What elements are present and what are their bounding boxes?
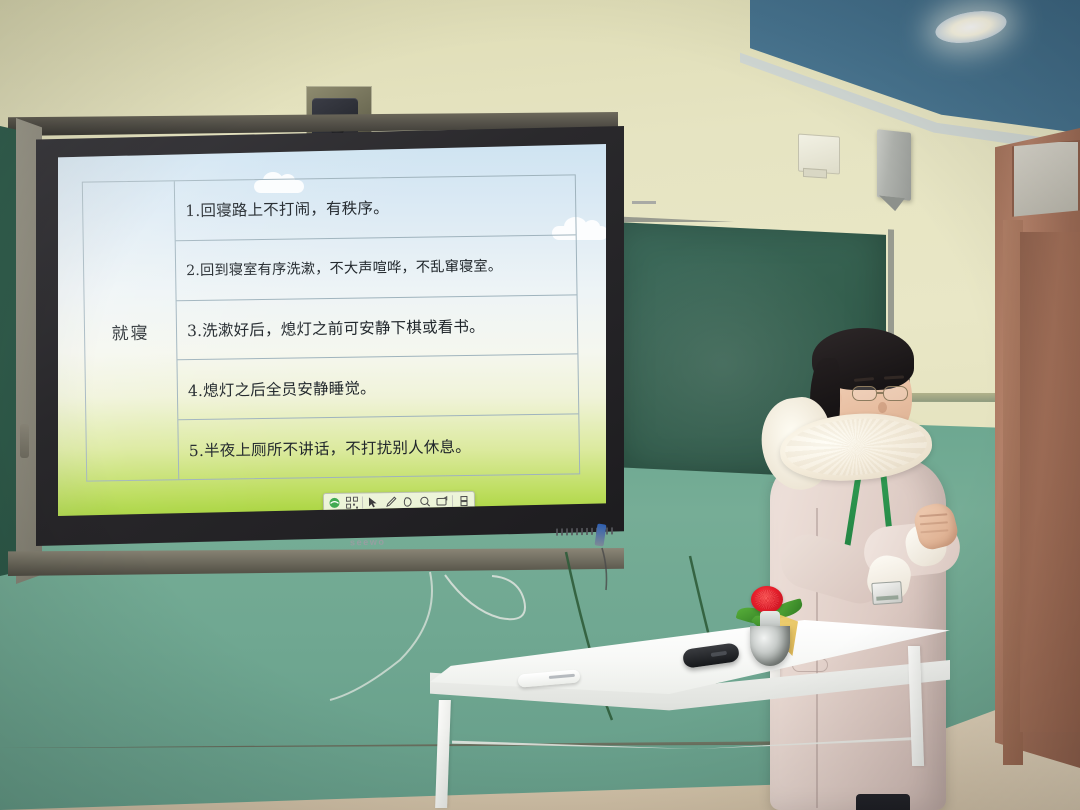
glasses-lens [883,386,908,401]
slide-row: 5.半夜上厕所不讲话，不打扰别人休息。 [178,415,579,480]
display-brand-label: seewo [350,537,386,548]
screenshot-icon[interactable] [434,494,449,508]
classroom-door[interactable] [1020,232,1080,732]
camera-brand-label [632,201,656,204]
id-badge [871,581,902,605]
nose [878,402,887,413]
toolbar-separator [362,497,363,509]
slide-row: 3.洗漱好后，熄灯之前可安静下棋或看书。 [177,295,578,361]
qr-code-icon[interactable] [344,496,359,510]
board-latch[interactable] [20,424,29,458]
interactive-whiteboard-screen[interactable]: 就寝 1.回寝路上不打闹，有秩序。 2.回到寝室有序洗漱，不大声喧哗，不乱窜寝室… [58,144,606,516]
slide-row: 1.回寝路上不打闹，有秩序。 [175,175,576,241]
slide-table: 就寝 1.回寝路上不打闹，有秩序。 2.回到寝室有序洗漱，不大声喧哗，不乱窜寝室… [82,174,580,481]
more-icon[interactable] [456,494,471,508]
slide-row: 2.回到寝室有序洗漱，不大声喧哗，不乱窜寝室。 [176,235,577,301]
red-flower [751,586,783,613]
wall-panel [798,134,840,175]
glasses-icon [852,386,914,402]
trousers [856,794,910,810]
cursor-icon[interactable] [366,495,381,509]
pen-icon[interactable] [383,495,398,509]
seewo-logo-icon[interactable] [327,496,342,510]
slide-label-cell: 就寝 [83,181,179,480]
glasses-lens [852,386,877,401]
wall-speaker [877,129,911,201]
teacher [756,328,992,810]
magnifier-icon[interactable] [417,495,432,509]
slide-row: 4.熄灯之后全员安静睡觉。 [177,355,578,421]
classroom-scene: 就寝 1.回寝路上不打闹，有秩序。 2.回到寝室有序洗漱，不大声喧哗，不乱窜寝室… [0,0,1080,810]
toolbar-separator [452,495,453,507]
door-transom-window [1012,140,1080,220]
eraser-icon[interactable] [400,495,415,509]
slide-rows: 1.回寝路上不打闹，有秩序。 2.回到寝室有序洗漱，不大声喧哗，不乱窜寝室。 3… [175,175,579,479]
